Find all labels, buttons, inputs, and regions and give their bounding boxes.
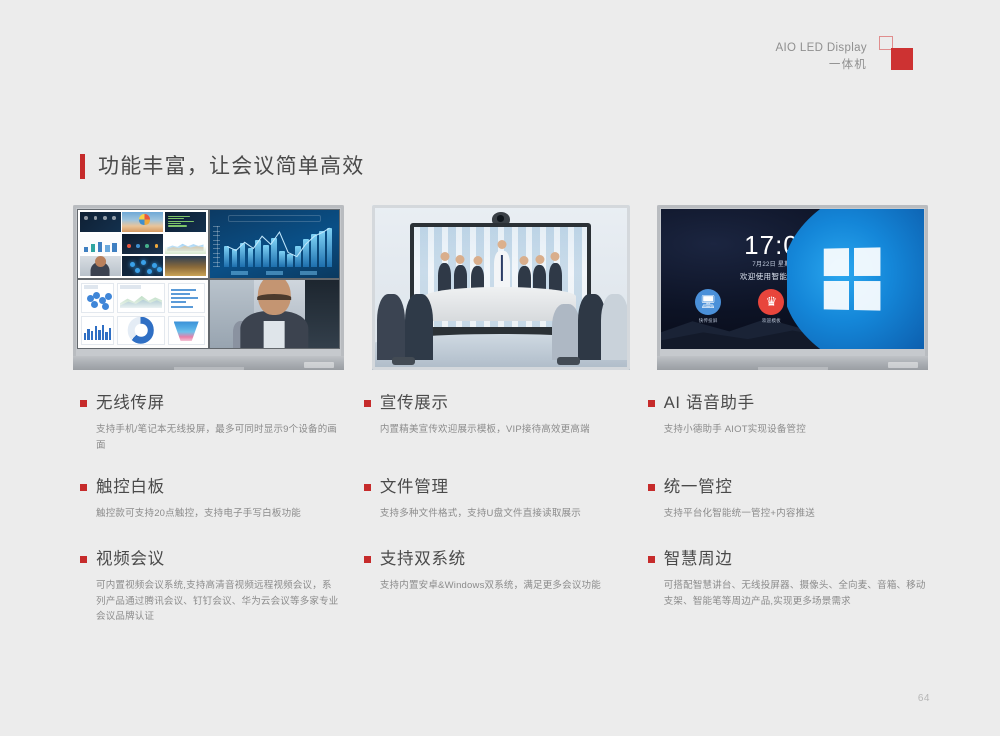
feature-title: 智慧周边 (664, 548, 733, 570)
bi-donut-chart (128, 317, 155, 344)
feature-header: 支持双系统 (364, 548, 625, 570)
bullet-square-icon (648, 400, 655, 407)
crown-icon: ♛ (758, 289, 784, 315)
feature-title: 触控白板 (96, 476, 165, 498)
bullet-square-icon (80, 484, 87, 491)
bullet-square-icon (648, 484, 655, 491)
feature-title: 支持双系统 (380, 548, 466, 570)
blue-chart-panel (210, 210, 340, 278)
feature-header: AI 语音助手 (648, 392, 930, 414)
feature-header: 统一管控 (648, 476, 930, 498)
feature-promo-display: 宣传展示 内置精美宣传欢迎展示模板，VIP接待高效更高端 (364, 392, 625, 454)
feature-header: 智慧周边 (648, 548, 930, 570)
feature-title: AI 语音助手 (664, 392, 755, 414)
quadrant-mini-tiles (77, 209, 209, 279)
tile-night-dots (122, 234, 163, 255)
quadrant-bi-dashboard (77, 279, 209, 349)
chart-header-bar (228, 215, 321, 222)
display-foot (758, 367, 828, 370)
bi-card-funnel (168, 316, 205, 346)
feature-title: 视频会议 (96, 548, 165, 570)
quadrant-video-portrait (209, 279, 341, 349)
bi-card-area (117, 283, 165, 313)
quadrant-blue-analytics (209, 209, 341, 279)
feature-title: 无线传屏 (96, 392, 165, 414)
brand-text: AIO LED Display 一体机 (775, 36, 867, 74)
feature-header: 触控白板 (80, 476, 341, 498)
windows-desktop (787, 209, 924, 349)
feature-column-3: AI 语音助手 支持小德助手 AIOT实现设备管控 统一管控 支持平台化智能统一… (648, 392, 930, 625)
bi-node-diagram (82, 284, 113, 312)
tile-balloon-photo (122, 212, 163, 233)
hot-air-balloon-icon (139, 214, 150, 225)
bullet-square-icon (80, 556, 87, 563)
feature-description: 支持内置安卓&Windows双系统，满足更多会议功能 (380, 578, 625, 594)
feature-header: 宣传展示 (364, 392, 625, 414)
feature-column-1: 无线传屏 支持手机/笔记本无线投屏，最多可同时显示9个设备的画面 触控白板 触控… (80, 392, 341, 625)
feature-description: 支持多种文件格式，支持U盘文件直接读取展示 (380, 506, 625, 522)
logo-square-filled (891, 48, 913, 70)
feature-wireless-cast: 无线传屏 支持手机/笔记本无线投屏，最多可同时显示9个设备的画面 (80, 392, 341, 454)
person-silhouette (91, 262, 110, 276)
display-foot (174, 367, 244, 370)
bi-column-chart (84, 323, 111, 341)
feature-video-conference: 视频会议 可内置视频会议系统,支持高清音视频远程视频会议，系列产品通过腾讯会议、… (80, 548, 341, 625)
brand-line-primary: AIO LED Display (775, 40, 867, 56)
feature-description: 支持平台化智能统一管控+内容推送 (664, 506, 926, 522)
stand-brand-logo (888, 362, 918, 368)
dashboard-quadrants (77, 209, 340, 349)
photo-frame (372, 205, 630, 370)
display-screen: 17:0 7月22日 星期 欢迎使用智能会议 🖥 快传投屏 ♛ 欢迎模板 (661, 209, 924, 349)
bi-card-hbars (168, 283, 205, 313)
feature-dual-os: 支持双系统 支持内置安卓&Windows双系统，满足更多会议功能 (364, 548, 625, 594)
bullet-square-icon (648, 556, 655, 563)
bi-horizontal-bars (171, 289, 202, 308)
heading-accent-bar (80, 154, 85, 179)
app-label: 欢迎模板 (758, 318, 784, 324)
colored-dots (127, 244, 158, 248)
brand-logo-icon (879, 36, 915, 70)
widget-dots (84, 216, 115, 220)
tile-white-chart (80, 234, 121, 255)
chart-y-ticks (213, 226, 219, 267)
feature-header: 无线传屏 (80, 392, 341, 414)
bi-card-network (81, 283, 114, 313)
feature-unified-management: 统一管控 支持平台化智能统一管控+内容推送 (648, 476, 930, 526)
dual-os-screen: 17:0 7月22日 星期 欢迎使用智能会议 🖥 快传投屏 ♛ 欢迎模板 (661, 209, 924, 349)
tile-network-map (122, 256, 163, 277)
product-image-row: 17:0 7月22日 星期 欢迎使用智能会议 🖥 快传投屏 ♛ 欢迎模板 (73, 205, 928, 370)
display-screen (77, 209, 340, 349)
screen-cast-icon: 🖥 (695, 289, 721, 315)
shot-dual-os-display: 17:0 7月22日 星期 欢迎使用智能会议 🖥 快传投屏 ♛ 欢迎模板 (657, 205, 928, 370)
chart-trend-line (224, 226, 333, 267)
bullet-square-icon (80, 400, 87, 407)
tile-dark-widgets (80, 212, 121, 233)
launcher-app-cast[interactable]: 🖥 快传投屏 (695, 289, 721, 324)
mini-bar-chart (84, 241, 117, 252)
bullet-square-icon (364, 484, 371, 491)
feature-title: 宣传展示 (380, 392, 449, 414)
feature-columns: 无线传屏 支持手机/笔记本无线投屏，最多可同时显示9个设备的画面 触控白板 触控… (80, 392, 930, 625)
page-number: 64 (918, 693, 930, 704)
brand-line-secondary: 一体机 (775, 57, 867, 74)
tile-green-bars (165, 212, 206, 233)
feature-description: 支持手机/笔记本无线投屏，最多可同时显示9个设备的画面 (96, 422, 341, 453)
bi-card-donut (117, 316, 165, 346)
feature-description: 可内置视频会议系统,支持高清音视频远程视频会议，系列产品通过腾讯会议、钉钉会议、… (96, 578, 341, 625)
bi-dashboard-panel (78, 280, 208, 348)
bullet-square-icon (364, 556, 371, 563)
feature-description: 内置精美宣传欢迎展示模板，VIP接待高效更高端 (380, 422, 625, 438)
background-right (305, 280, 339, 348)
tile-person-video (80, 256, 121, 277)
section-heading: 功能丰富，让会议简单高效 (80, 140, 364, 193)
feature-smart-peripherals: 智慧周边 可搭配智慧讲台、无线投屏器、摄像头、全向麦、音箱、移动支架、智能笔等周… (648, 548, 930, 609)
feature-description: 支持小德助手 AIOT实现设备管控 (664, 422, 926, 438)
mini-tile-grid (78, 210, 208, 278)
launcher-date: 7月22日 星期 (752, 259, 790, 268)
feature-header: 文件管理 (364, 476, 625, 498)
feature-description: 可搭配智慧讲台、无线投屏器、摄像头、全向麦、音箱、移动支架、智能笔等周边产品,实… (664, 578, 926, 609)
feature-description: 触控款可支持20点触控，支持电子手写白板功能 (96, 506, 341, 522)
feature-header: 视频会议 (80, 548, 341, 570)
person-hair (257, 294, 291, 301)
feature-title: 统一管控 (664, 476, 733, 498)
bi-card-columns (81, 316, 114, 346)
bullet-square-icon (364, 400, 371, 407)
feature-file-management: 文件管理 支持多种文件格式，支持U盘文件直接读取展示 (364, 476, 625, 526)
page-title: 功能丰富，让会议简单高效 (98, 154, 364, 179)
bi-card-title-bar (120, 285, 141, 289)
bar-list (168, 215, 203, 229)
shot-video-conference-room (372, 205, 630, 370)
network-nodes (122, 256, 163, 277)
windows-logo-icon (824, 248, 881, 311)
launcher-app-welcome[interactable]: ♛ 欢迎模板 (758, 289, 784, 324)
feature-touch-whiteboard: 触控白板 触控款可支持20点触控，支持电子手写白板功能 (80, 476, 341, 526)
chart-legend (222, 271, 326, 275)
bi-funnel-chart (174, 321, 199, 341)
person-shirt (264, 321, 285, 348)
tile-area-chart (165, 234, 206, 255)
stand-brand-logo (304, 362, 334, 368)
brand-mark: AIO LED Display 一体机 (775, 36, 915, 74)
feature-title: 文件管理 (380, 476, 449, 498)
feature-column-2: 宣传展示 内置精美宣传欢迎展示模板，VIP接待高效更高端 文件管理 支持多种文件… (364, 392, 625, 625)
feature-ai-voice-assistant: AI 语音助手 支持小德助手 AIOT实现设备管控 (648, 392, 930, 454)
video-portrait-panel (210, 280, 340, 348)
tile-field-photo (165, 256, 206, 277)
app-label: 快传投屏 (695, 318, 721, 324)
shot-multi-window-dashboard (73, 205, 344, 370)
